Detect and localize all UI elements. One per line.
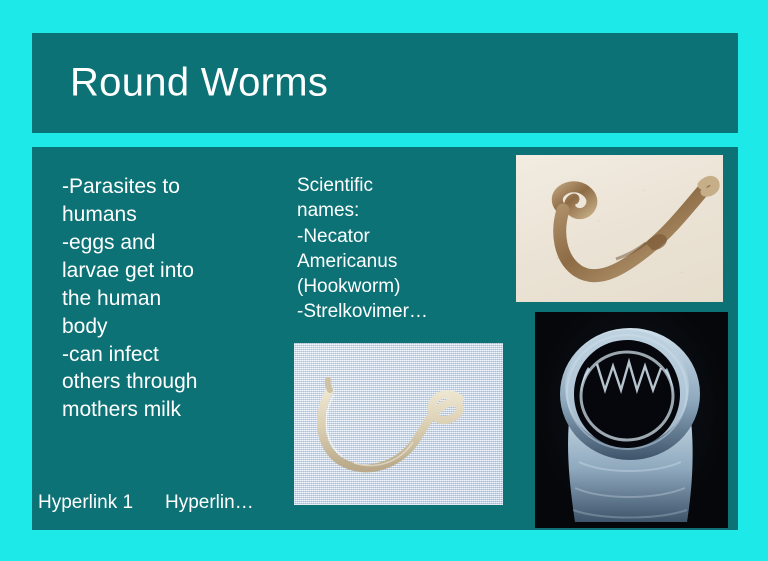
left-line: larvae get into (62, 257, 292, 285)
middle-line: (Hookworm) (297, 274, 487, 299)
middle-line: Americanus (297, 249, 487, 274)
left-line: -can infect (62, 341, 292, 369)
middle-line: names: (297, 198, 487, 223)
left-line: mothers milk (62, 396, 292, 424)
content-panel: -Parasites to humans -eggs and larvae ge… (32, 147, 738, 530)
left-text-column: -Parasites to humans -eggs and larvae ge… (62, 173, 292, 424)
hookworm-body-illustration (516, 155, 723, 302)
left-line: humans (62, 201, 292, 229)
hookworm-microscope-photo (516, 155, 723, 302)
slide: Round Worms -Parasites to humans -eggs a… (0, 0, 768, 561)
roundworm-body-illustration (294, 343, 503, 505)
left-line: the human (62, 285, 292, 313)
middle-line: Scientific (297, 173, 487, 198)
left-line: body (62, 313, 292, 341)
worm-on-blue-cloth-photo (294, 343, 503, 505)
left-line: -eggs and (62, 229, 292, 257)
left-line: others through (62, 368, 292, 396)
hyperlink-1[interactable]: Hyperlink 1 (38, 492, 133, 514)
middle-line: -Necator (297, 224, 487, 249)
hyperlink-2[interactable]: Hyperlin… (165, 492, 254, 514)
middle-text-column: Scientific names: -Necator Americanus (H… (297, 173, 487, 325)
title-bar: Round Worms (32, 33, 738, 133)
page-title: Round Worms (70, 61, 328, 106)
left-line: -Parasites to (62, 173, 292, 201)
middle-line: -Strelkovimer… (297, 299, 487, 324)
hyperlink-row: Hyperlink 1 Hyperlin… (32, 492, 738, 522)
